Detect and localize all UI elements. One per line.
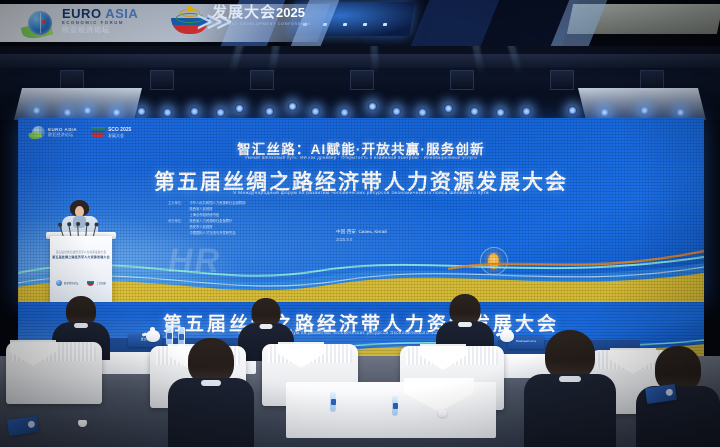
organizer-line: 中国国际人才交流与开发研究会 bbox=[189, 230, 235, 236]
organizer-label: 承办单位： bbox=[168, 218, 184, 236]
euro-asia-forum-logo-text: EURO ASIA ECONOMIC FORUM 欧亚经济论坛 bbox=[62, 7, 138, 34]
top-banner-logos: EURO ASIA ECONOMIC FORUM 欧亚经济论坛 ⋙ 发展大会20… bbox=[0, 0, 420, 46]
globe-icon bbox=[22, 8, 56, 38]
sco-logo-text: 发展大会2025 SILK ROAD DEVELOPMENT CONFERENC… bbox=[212, 5, 311, 27]
place-ru: Сиань, Китай bbox=[358, 229, 386, 234]
logo-asia: ASIA bbox=[105, 6, 138, 21]
podium-logo-left-text: 欧亚经济论坛 bbox=[64, 282, 78, 285]
logo-economic-forum: ECONOMIC FORUM bbox=[62, 21, 138, 25]
spotlight bbox=[63, 108, 72, 117]
ceiling-banner-band: EURO ASIA ECONOMIC FORUM 欧亚经济论坛 ⋙ 发展大会20… bbox=[0, 0, 720, 46]
sco-logo-sub: SILK ROAD DEVELOPMENT CONFERENCE bbox=[212, 23, 311, 27]
spotlight bbox=[190, 107, 199, 116]
spotlight bbox=[83, 106, 92, 115]
sco-logo-year: 2025 bbox=[276, 5, 305, 20]
teapot bbox=[500, 330, 514, 342]
sco-emblem-icon bbox=[87, 281, 94, 286]
logo-euro-asia-cn: 欧亚经济论坛 bbox=[62, 27, 138, 34]
spotlight bbox=[392, 107, 401, 116]
spotlight bbox=[265, 107, 274, 116]
screen-kicker-ru: Умный Шёлковый путь: ИИ как драйвер · От… bbox=[18, 155, 704, 160]
podium-and-speaker: 第五届丝绸之路经济带人力资源发展大会 第五届丝绸之路经济带人力资源发展大会 欧亚… bbox=[32, 196, 128, 308]
organizer-label: 主办单位： bbox=[168, 200, 184, 218]
sco-logo-cn: 发展大会 bbox=[212, 4, 276, 21]
lantern-graphic bbox=[488, 253, 499, 269]
spotlight bbox=[340, 108, 349, 117]
spotlight bbox=[676, 108, 685, 117]
globe-icon bbox=[56, 280, 62, 286]
logo-euro: EURO bbox=[62, 6, 102, 21]
spotlight bbox=[418, 108, 427, 117]
spotlight bbox=[568, 106, 577, 115]
spotlight bbox=[137, 107, 146, 116]
spotlight bbox=[470, 107, 479, 116]
podium-logo-right-text: 上合组织 bbox=[96, 282, 106, 285]
spotlight bbox=[496, 108, 505, 117]
screen-headline-ru: V Международный форум по развитию челове… bbox=[18, 190, 704, 195]
ceiling-side-panel-right bbox=[578, 88, 706, 120]
audience-foreground: 发言席 嘉宾席 Почётный гость bbox=[0, 300, 720, 447]
audience-member-front bbox=[168, 338, 254, 447]
spotlight bbox=[216, 108, 225, 117]
teacup bbox=[78, 420, 87, 427]
water-bottle bbox=[330, 392, 337, 412]
event-date: 2025.9.9 bbox=[336, 236, 387, 243]
podium-sco-logo: 上合组织 bbox=[87, 281, 106, 286]
podium-logo-row: 欧亚经济论坛 上合组织 bbox=[50, 280, 112, 286]
screen-hr-watermark: HR bbox=[168, 242, 221, 281]
ceiling-truss-lighting-rig bbox=[0, 46, 720, 120]
conference-photo-scene: EURO ASIA ECONOMIC FORUM 欧亚经济论坛 ⋙ 发展大会20… bbox=[0, 0, 720, 447]
teacup bbox=[438, 410, 447, 417]
water-bottle bbox=[392, 396, 399, 416]
spotlight bbox=[368, 102, 377, 111]
spotlight bbox=[112, 108, 121, 117]
spotlight bbox=[311, 107, 320, 116]
spotlight bbox=[163, 108, 172, 117]
audience-member-front bbox=[524, 330, 616, 447]
spotlight bbox=[32, 106, 41, 115]
place-cn: 中国·西安 bbox=[336, 229, 356, 234]
spotlight bbox=[522, 107, 531, 116]
ceiling-side-panel-left bbox=[14, 88, 142, 120]
spotlight bbox=[235, 104, 244, 113]
teapot bbox=[146, 330, 160, 342]
spotlight bbox=[640, 106, 649, 115]
podium-euro-logo: 欧亚经济论坛 bbox=[56, 280, 78, 286]
podium-small-text: 第五届丝绸之路经济带人力资源发展大会 bbox=[50, 250, 112, 254]
spotlight bbox=[288, 102, 297, 111]
screen-place-date: 中国·西安 Сиань, Китай 2025.9.9 bbox=[336, 228, 387, 243]
podium-main-text: 第五届丝绸之路经济带人力资源发展大会 bbox=[50, 255, 112, 259]
spotlight bbox=[444, 104, 453, 113]
truss-beam bbox=[0, 54, 720, 68]
organizer-group: 主办单位： 中华人民共和国人力资源和社会保障部 陕西省人民政府 上海合作组织秘书… bbox=[168, 200, 588, 218]
spotlight bbox=[600, 108, 609, 117]
